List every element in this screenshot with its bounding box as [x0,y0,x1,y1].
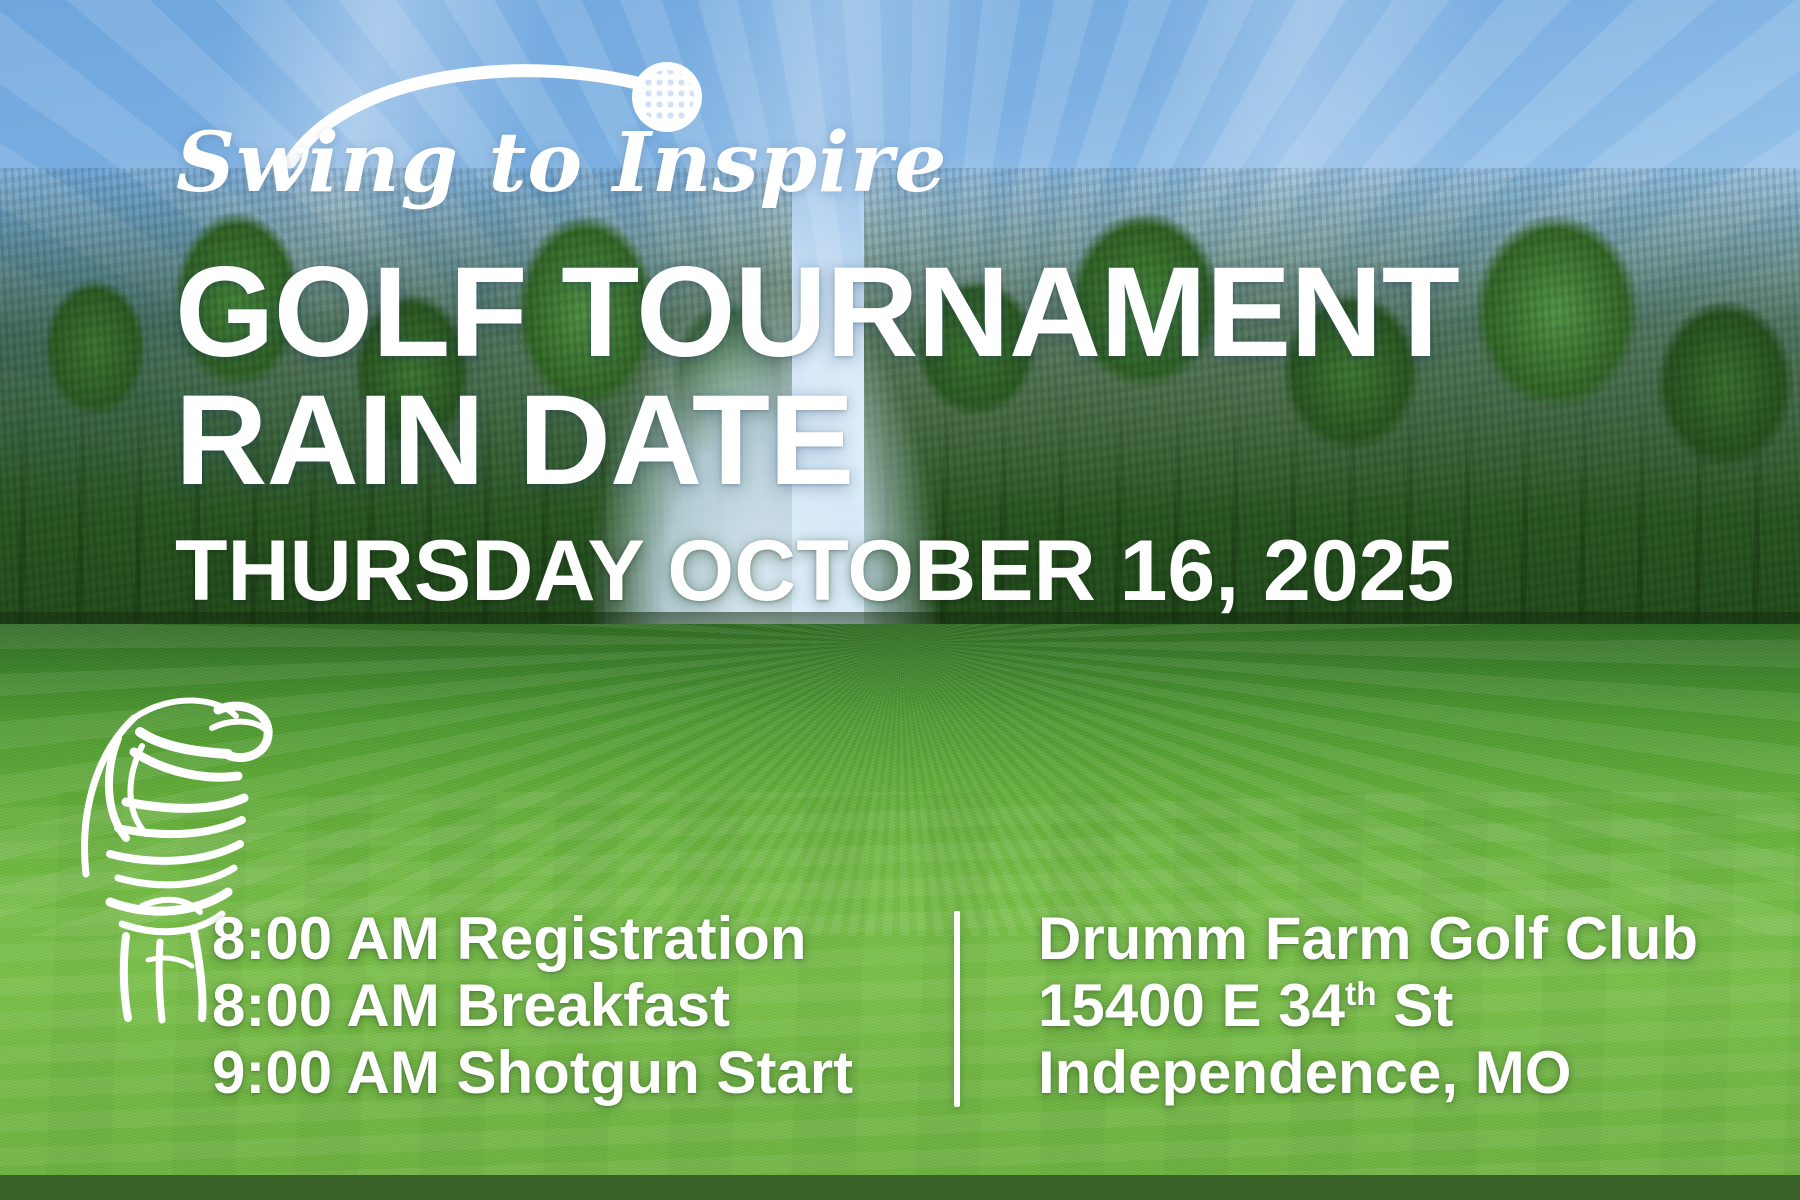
venue-column: Drumm Farm Golf Club 15400 E 34th St Ind… [1038,905,1698,1107]
info-row: 8:00 AM Registration 8:00 AM Breakfast 9… [212,905,1772,1107]
headline-line-2: RAIN DATE [175,380,1615,502]
event-logo: Swing to Inspire [170,44,790,214]
column-divider [954,911,960,1107]
venue-city-state: Independence, MO [1038,1039,1698,1106]
logo-script-text: Swing to Inspire [176,122,776,204]
venue-street-number: 15400 E 34 [1038,972,1345,1039]
golf-tournament-flyer: Swing to Inspire GOLF TOURNAMENT RAIN DA… [0,0,1800,1200]
schedule-item: 8:00 AM Breakfast [212,972,912,1039]
headline-date-line: THURSDAY OCTOBER 16, 2025 [175,531,1615,613]
bottom-accent-bar [0,1175,1800,1200]
headline-line-1: GOLF TOURNAMENT [175,252,1615,374]
schedule-item: 8:00 AM Registration [212,905,912,972]
venue-street: 15400 E 34th St [1038,972,1698,1039]
venue-street-ordinal: th [1345,976,1377,1013]
schedule-item: 9:00 AM Shotgun Start [212,1039,912,1106]
venue-street-suffix: St [1377,972,1454,1039]
headline-block: GOLF TOURNAMENT RAIN DATE THURSDAY OCTOB… [175,252,1615,613]
venue-name: Drumm Farm Golf Club [1038,905,1698,972]
schedule-column: 8:00 AM Registration 8:00 AM Breakfast 9… [212,905,912,1107]
